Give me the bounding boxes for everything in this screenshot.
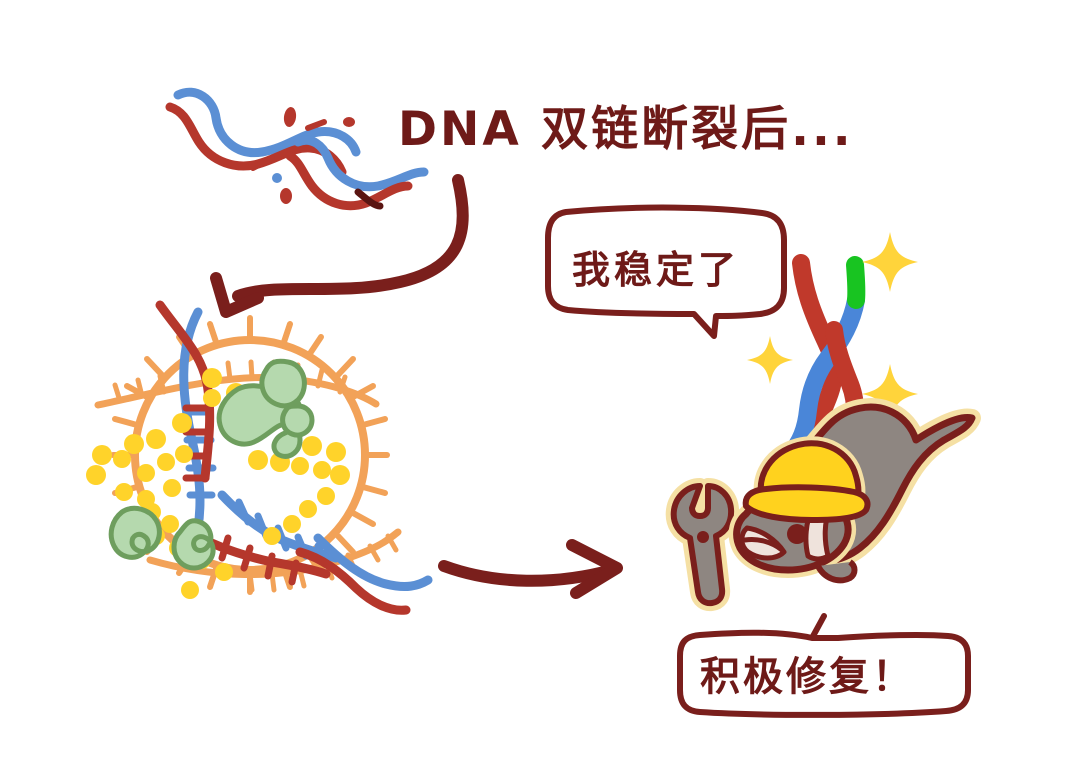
repair-bubble-text: 积极修复！ [700,654,915,700]
wrench-bolt [697,531,709,543]
whale-helmet-brim [746,487,868,520]
illustration-canvas: DNA 双链断裂后... [0,0,1080,759]
whale-eye [787,524,807,544]
chromosome-telomere-green [855,265,856,300]
stable-bubble-text: 我稳定了 [572,248,740,292]
page-title: DNA 双链断裂后... [398,102,854,157]
